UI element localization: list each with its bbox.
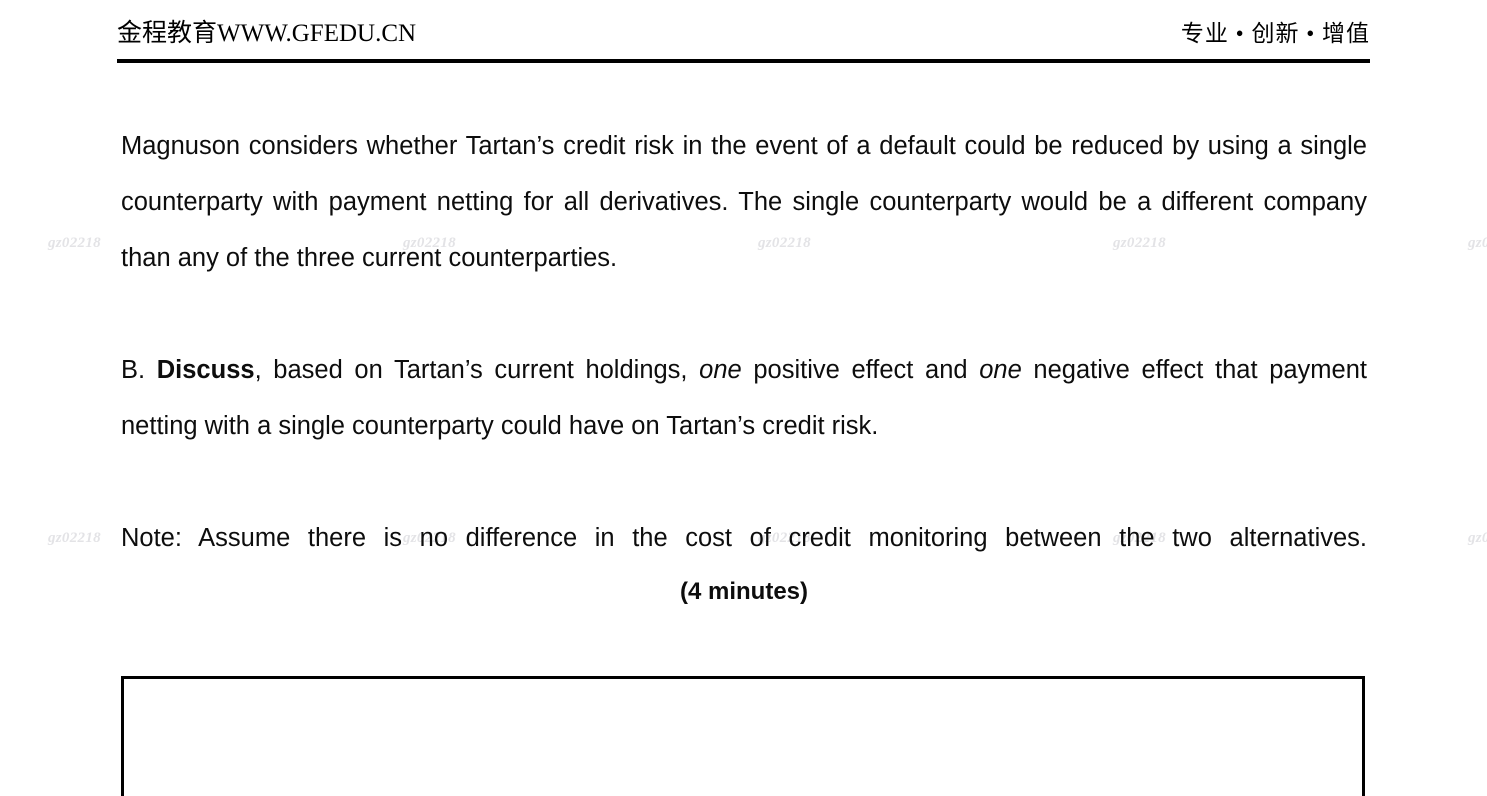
note-text: Note: Assume there is no difference in t… <box>121 510 1367 566</box>
question-b-emphasis-2: one <box>979 356 1022 384</box>
brand-title: 金程教育WWW.GFEDU.CN <box>117 18 416 50</box>
time-allotment: (4 minutes) <box>121 568 1367 616</box>
paragraph-intro: Magnuson considers whether Tartan’s cred… <box>121 118 1367 286</box>
question-b-marker: B. <box>121 356 145 384</box>
header-divider <box>117 59 1370 63</box>
document-page: 金程教育WWW.GFEDU.CN 专业 • 创新 • 增值 Magnuson c… <box>0 0 1487 761</box>
question-b-verb: Discuss <box>157 356 255 384</box>
brand-tagline: 专业 • 创新 • 增值 <box>1181 18 1370 50</box>
answer-box[interactable] <box>121 676 1365 796</box>
question-b-segment-1: , based on Tartan’s current holdings, <box>255 356 700 384</box>
note-wrap: Note: Assume there is no difference in t… <box>121 510 1367 566</box>
question-b-wrap: B. Discuss, based on Tartan’s current ho… <box>121 342 1367 454</box>
page-header: 金程教育WWW.GFEDU.CN 专业 • 创新 • 增值 <box>117 18 1370 62</box>
question-b: B. Discuss, based on Tartan’s current ho… <box>121 342 1367 454</box>
question-b-emphasis-1: one <box>699 356 742 384</box>
paragraph-intro-wrap: Magnuson considers whether Tartan’s cred… <box>121 118 1367 286</box>
question-b-segment-2: positive effect and <box>742 356 980 384</box>
